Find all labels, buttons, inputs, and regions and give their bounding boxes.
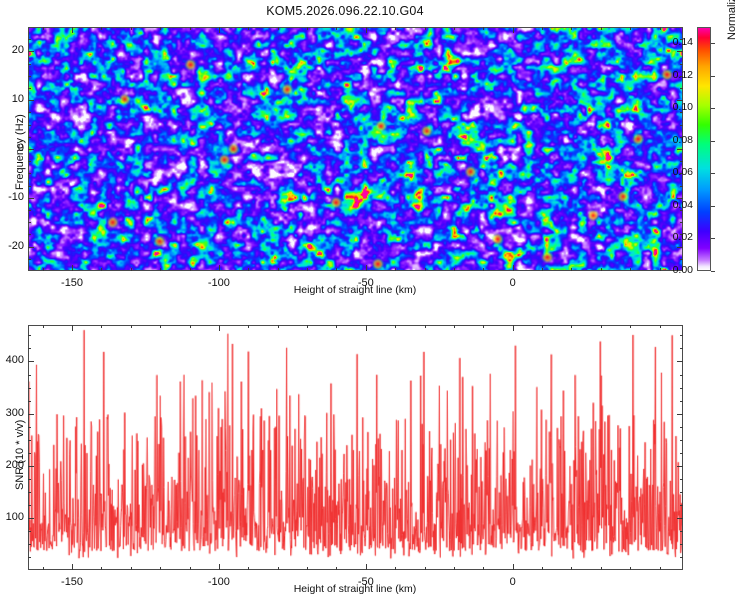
- spectrogram-x-tick: [72, 265, 73, 271]
- snr-x-minor-tick: [131, 567, 132, 570]
- spectrogram-x-minor-tick: [571, 268, 572, 271]
- spectrogram-x-minor-tick: [454, 27, 455, 30]
- spectrogram-x-minor-tick: [43, 27, 44, 30]
- snr-y-minor-tick: [28, 479, 31, 480]
- snr-x-minor-tick: [248, 325, 249, 328]
- snr-x-minor-tick: [660, 567, 661, 570]
- spectrogram-x-tick: [219, 27, 220, 33]
- spectrogram-x-minor-tick: [395, 268, 396, 271]
- spectrogram-y-tick-label: -20: [0, 240, 24, 252]
- spectrogram-y-minor-tick: [28, 259, 31, 260]
- spectrogram-x-minor-tick: [542, 27, 543, 30]
- spectrogram-x-minor-tick: [307, 268, 308, 271]
- snr-y-tick-label: 200: [0, 459, 24, 471]
- snr-y-minor-tick: [680, 505, 683, 506]
- spectrogram-x-tick: [513, 265, 514, 271]
- spectrogram-x-tick: [219, 265, 220, 271]
- colorbar-tick: [711, 43, 715, 44]
- spectrogram-x-minor-tick: [336, 268, 337, 271]
- spectrogram-x-tick-label: 0: [483, 277, 543, 289]
- spectrogram-x-minor-tick: [160, 268, 161, 271]
- spectrogram-y-tick: [28, 198, 34, 199]
- spectrogram-x-minor-tick: [395, 27, 396, 30]
- spectrogram-x-minor-tick: [630, 268, 631, 271]
- snr-x-minor-tick: [101, 325, 102, 328]
- colorbar-tick-label: 0.14: [651, 36, 693, 48]
- snr-x-minor-tick: [425, 325, 426, 328]
- snr-x-tick-label: -50: [336, 576, 396, 588]
- spectrogram-x-minor-tick: [601, 268, 602, 271]
- snr-y-tick: [677, 414, 683, 415]
- snr-y-minor-tick: [28, 544, 31, 545]
- snr-x-minor-tick: [483, 325, 484, 328]
- spectrogram-y-minor-tick: [680, 64, 683, 65]
- snr-y-tick-label: 300: [0, 407, 24, 419]
- spectrogram-y-minor-tick: [28, 88, 31, 89]
- spectrogram-y-tick-label: 0: [0, 142, 24, 154]
- snr-x-minor-tick: [395, 567, 396, 570]
- spectrogram-x-minor-tick: [601, 27, 602, 30]
- snr-x-tick: [366, 325, 367, 331]
- spectrogram-y-tick: [28, 247, 34, 248]
- snr-x-tick-label: -150: [42, 576, 102, 588]
- snr-y-minor-tick: [28, 388, 31, 389]
- spectrogram-y-tick: [677, 247, 683, 248]
- spectrogram-x-tick: [72, 27, 73, 33]
- colorbar-tick-label: 0.12: [651, 69, 693, 81]
- snr-y-tick-label: 400: [0, 354, 24, 366]
- snr-x-minor-tick: [190, 325, 191, 328]
- snr-panel: [28, 325, 683, 570]
- spectrogram-image: [29, 28, 682, 270]
- snr-y-tick: [677, 361, 683, 362]
- colorbar-tick-label: 0.10: [651, 101, 693, 113]
- spectrogram-y-tick: [28, 149, 34, 150]
- snr-x-minor-tick: [601, 567, 602, 570]
- snr-x-minor-tick: [278, 325, 279, 328]
- spectrogram-x-minor-tick: [43, 268, 44, 271]
- spectrogram-y-tick: [28, 51, 34, 52]
- colorbar-tick-label: 0.06: [651, 166, 693, 178]
- snr-x-minor-tick: [43, 567, 44, 570]
- spectrogram-x-minor-tick: [425, 268, 426, 271]
- spectrogram-x-minor-tick: [483, 268, 484, 271]
- spectrogram-x-minor-tick: [278, 27, 279, 30]
- snr-x-minor-tick: [660, 325, 661, 328]
- spectrogram-x-minor-tick: [542, 268, 543, 271]
- spectrogram-x-minor-tick: [131, 27, 132, 30]
- spectrogram-y-tick-label: -10: [0, 191, 24, 203]
- snr-y-minor-tick: [28, 427, 31, 428]
- spectrogram-panel: [28, 27, 683, 271]
- spectrogram-y-minor-tick: [28, 173, 31, 174]
- spectrogram-x-minor-tick: [101, 268, 102, 271]
- snr-x-minor-tick: [483, 567, 484, 570]
- snr-y-minor-tick: [680, 375, 683, 376]
- spectrogram-y-minor-tick: [680, 125, 683, 126]
- snr-y-tick: [28, 466, 34, 467]
- colorbar-title: Normalized spectral amplitude: [726, 0, 738, 40]
- snr-y-minor-tick: [680, 427, 683, 428]
- spectrogram-x-minor-tick: [660, 27, 661, 30]
- colorbar-tick: [711, 206, 715, 207]
- spectrogram-y-tick-label: 10: [0, 93, 24, 105]
- spectrogram-y-minor-tick: [28, 137, 31, 138]
- figure-title: KOM5.2026.096.22.10.G04: [0, 4, 690, 18]
- spectrogram-x-tick-label: -50: [336, 277, 396, 289]
- snr-trace-plot: [29, 326, 682, 569]
- colorbar-tick-label: 0.02: [651, 231, 693, 243]
- spectrogram-y-minor-tick: [680, 222, 683, 223]
- snr-y-minor-tick: [680, 557, 683, 558]
- spectrogram-x-tick-label: -150: [42, 277, 102, 289]
- spectrogram-x-minor-tick: [307, 27, 308, 30]
- snr-y-minor-tick: [680, 544, 683, 545]
- spectrogram-y-minor-tick: [28, 125, 31, 126]
- snr-x-minor-tick: [101, 567, 102, 570]
- snr-x-minor-tick: [571, 325, 572, 328]
- snr-x-minor-tick: [336, 567, 337, 570]
- spectrogram-y-minor-tick: [680, 186, 683, 187]
- snr-x-tick: [72, 564, 73, 570]
- spectrogram-x-tick-label: -100: [189, 277, 249, 289]
- spectrogram-y-minor-tick: [28, 161, 31, 162]
- snr-x-tick-label: -100: [189, 576, 249, 588]
- spectrogram-y-minor-tick: [28, 39, 31, 40]
- snr-x-minor-tick: [278, 567, 279, 570]
- snr-y-minor-tick: [28, 401, 31, 402]
- snr-x-tick: [513, 325, 514, 331]
- snr-x-minor-tick: [336, 325, 337, 328]
- colorbar-tick-label: 0.04: [651, 199, 693, 211]
- snr-x-minor-tick: [160, 567, 161, 570]
- colorbar-tick: [711, 238, 715, 239]
- snr-y-minor-tick: [28, 375, 31, 376]
- snr-y-minor-tick: [28, 348, 31, 349]
- snr-x-minor-tick: [160, 325, 161, 328]
- spectrogram-y-minor-tick: [680, 88, 683, 89]
- spectrogram-y-minor-tick: [28, 64, 31, 65]
- snr-x-minor-tick: [190, 567, 191, 570]
- snr-y-minor-tick: [680, 453, 683, 454]
- snr-y-tick: [28, 361, 34, 362]
- snr-y-minor-tick: [680, 492, 683, 493]
- snr-x-tick: [513, 564, 514, 570]
- snr-x-minor-tick: [454, 325, 455, 328]
- snr-x-minor-tick: [454, 567, 455, 570]
- spectrogram-x-minor-tick: [483, 27, 484, 30]
- snr-y-minor-tick: [680, 348, 683, 349]
- spectrogram-y-tick: [677, 149, 683, 150]
- spectrogram-x-minor-tick: [630, 27, 631, 30]
- colorbar-tick-label: 0.08: [651, 134, 693, 146]
- snr-y-minor-tick: [28, 440, 31, 441]
- spectrogram-y-minor-tick: [28, 186, 31, 187]
- snr-y-minor-tick: [680, 335, 683, 336]
- spectrogram-x-minor-tick: [425, 27, 426, 30]
- spectrogram-x-tick: [513, 27, 514, 33]
- spectrogram-y-minor-tick: [28, 234, 31, 235]
- colorbar-tick: [711, 76, 715, 77]
- snr-x-tick: [219, 325, 220, 331]
- snr-x-minor-tick: [395, 325, 396, 328]
- snr-x-minor-tick: [307, 325, 308, 328]
- spectrogram-x-minor-tick: [454, 268, 455, 271]
- snr-y-axis-title: SNR (10 * v/v): [14, 420, 26, 490]
- spectrogram-x-minor-tick: [101, 27, 102, 30]
- spectrogram-y-tick-label: 20: [0, 44, 24, 56]
- snr-y-tick: [28, 414, 34, 415]
- spectrogram-x-minor-tick: [160, 27, 161, 30]
- snr-x-tick-label: 0: [483, 576, 543, 588]
- spectrogram-x-minor-tick: [131, 268, 132, 271]
- snr-x-minor-tick: [307, 567, 308, 570]
- snr-y-tick: [28, 518, 34, 519]
- snr-x-minor-tick: [248, 567, 249, 570]
- spectrogram-x-minor-tick: [190, 268, 191, 271]
- spectrogram-y-minor-tick: [680, 259, 683, 260]
- snr-y-minor-tick: [680, 479, 683, 480]
- snr-y-minor-tick: [28, 505, 31, 506]
- colorbar-tick: [711, 271, 715, 272]
- snr-x-minor-tick: [571, 567, 572, 570]
- snr-y-minor-tick: [680, 401, 683, 402]
- snr-y-tick: [677, 518, 683, 519]
- snr-x-tick: [72, 325, 73, 331]
- spectrogram-x-minor-tick: [336, 27, 337, 30]
- spectrogram-x-tick: [366, 27, 367, 33]
- snr-x-tick: [366, 564, 367, 570]
- colorbar-gradient: [697, 27, 711, 271]
- snr-y-tick: [677, 466, 683, 467]
- spectrogram-y-minor-tick: [28, 76, 31, 77]
- spectrogram-y-minor-tick: [680, 161, 683, 162]
- spectrogram-y-minor-tick: [28, 112, 31, 113]
- snr-y-minor-tick: [680, 440, 683, 441]
- spectrogram-x-minor-tick: [190, 27, 191, 30]
- figure-root: KOM5.2026.096.22.10.G04 Frequency (Hz) H…: [0, 0, 750, 600]
- spectrogram-x-minor-tick: [248, 27, 249, 30]
- spectrogram-y-tick: [28, 100, 34, 101]
- colorbar-tick: [711, 108, 715, 109]
- snr-y-minor-tick: [28, 492, 31, 493]
- colorbar-tick: [711, 141, 715, 142]
- snr-y-minor-tick: [28, 557, 31, 558]
- spectrogram-x-tick: [366, 265, 367, 271]
- snr-x-minor-tick: [601, 325, 602, 328]
- spectrogram-x-minor-tick: [248, 268, 249, 271]
- snr-x-minor-tick: [131, 325, 132, 328]
- colorbar-tick-label: 0.00: [651, 264, 693, 276]
- snr-y-minor-tick: [28, 335, 31, 336]
- spectrogram-y-minor-tick: [28, 210, 31, 211]
- snr-x-minor-tick: [542, 325, 543, 328]
- spectrogram-x-minor-tick: [278, 268, 279, 271]
- colorbar-tick: [711, 173, 715, 174]
- snr-x-minor-tick: [630, 325, 631, 328]
- snr-y-minor-tick: [28, 453, 31, 454]
- snr-x-minor-tick: [630, 567, 631, 570]
- snr-x-tick: [219, 564, 220, 570]
- spectrogram-y-tick: [677, 51, 683, 52]
- snr-x-minor-tick: [542, 567, 543, 570]
- snr-y-minor-tick: [680, 531, 683, 532]
- spectrogram-y-minor-tick: [28, 222, 31, 223]
- snr-y-minor-tick: [28, 531, 31, 532]
- snr-y-tick-label: 100: [0, 511, 24, 523]
- snr-y-minor-tick: [680, 388, 683, 389]
- spectrogram-x-minor-tick: [571, 27, 572, 30]
- snr-x-minor-tick: [425, 567, 426, 570]
- snr-x-minor-tick: [43, 325, 44, 328]
